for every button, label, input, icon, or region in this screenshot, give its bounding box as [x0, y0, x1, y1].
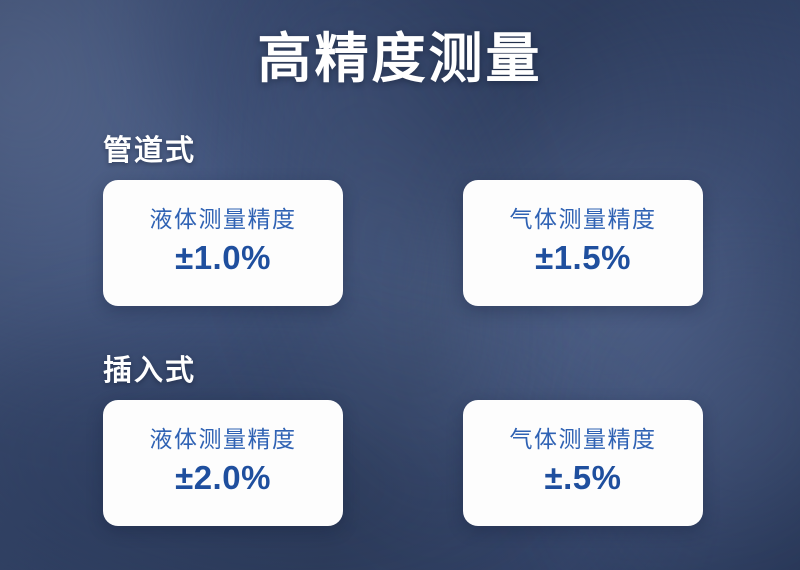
- section-heading-pipeline: 管道式: [103, 133, 800, 169]
- accuracy-card-pipeline-liquid: 液体测量精度 ±1.0%: [103, 180, 343, 306]
- accuracy-card-pipeline-gas: 气体测量精度 ±1.5%: [463, 180, 703, 306]
- accuracy-card-insertion-gas: 气体测量精度 ±.5%: [463, 400, 703, 526]
- section-pipeline: 管道式 液体测量精度 ±1.0% 气体测量精度 ±1.5%: [0, 133, 800, 306]
- page-title: 高精度测量: [0, 28, 800, 90]
- accuracy-card-value: ±.5%: [545, 460, 622, 496]
- accuracy-card-label: 液体测量精度: [150, 426, 297, 454]
- accuracy-card-value: ±1.0%: [175, 240, 271, 276]
- accuracy-card-insertion-liquid: 液体测量精度 ±2.0%: [103, 400, 343, 526]
- poster-content: 高精度测量 管道式 液体测量精度 ±1.0% 气体测量精度 ±1.5% 插入式 …: [0, 0, 800, 570]
- accuracy-card-label: 气体测量精度: [510, 206, 657, 234]
- accuracy-card-label: 液体测量精度: [150, 206, 297, 234]
- section-insertion: 插入式 液体测量精度 ±2.0% 气体测量精度 ±.5%: [0, 353, 800, 526]
- accuracy-card-label: 气体测量精度: [510, 426, 657, 454]
- card-row-pipeline: 液体测量精度 ±1.0% 气体测量精度 ±1.5%: [103, 180, 703, 306]
- card-row-insertion: 液体测量精度 ±2.0% 气体测量精度 ±.5%: [103, 400, 703, 526]
- section-heading-insertion: 插入式: [103, 353, 800, 389]
- accuracy-card-value: ±1.5%: [535, 240, 631, 276]
- accuracy-spec-poster: 高精度测量 管道式 液体测量精度 ±1.0% 气体测量精度 ±1.5% 插入式 …: [0, 0, 800, 570]
- accuracy-card-value: ±2.0%: [175, 460, 271, 496]
